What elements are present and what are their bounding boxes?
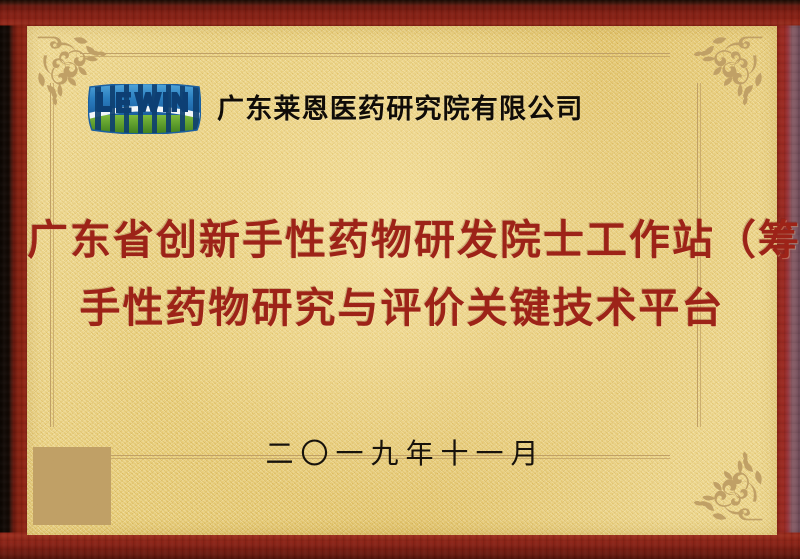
title-line-2: 手性药物研究与评价关键技术平台: [27, 274, 777, 342]
award-date: 二〇一九年十一月: [27, 432, 777, 472]
award-plaque: 广东莱恩医药研究院有限公司 广东省创新手性药物研发院士工作站（筹） 手性药物研究…: [0, 0, 800, 559]
company-header: 广东莱恩医药研究院有限公司: [88, 84, 584, 134]
company-name-text: 广东莱恩医药研究院有限公司: [217, 96, 584, 123]
lewwin-logo-icon: [88, 84, 201, 134]
plaque-title: 广东省创新手性药物研发院士工作站（筹） 手性药物研究与评价关键技术平台: [27, 206, 777, 342]
title-line-1: 广东省创新手性药物研发院士工作站（筹）: [27, 206, 777, 274]
